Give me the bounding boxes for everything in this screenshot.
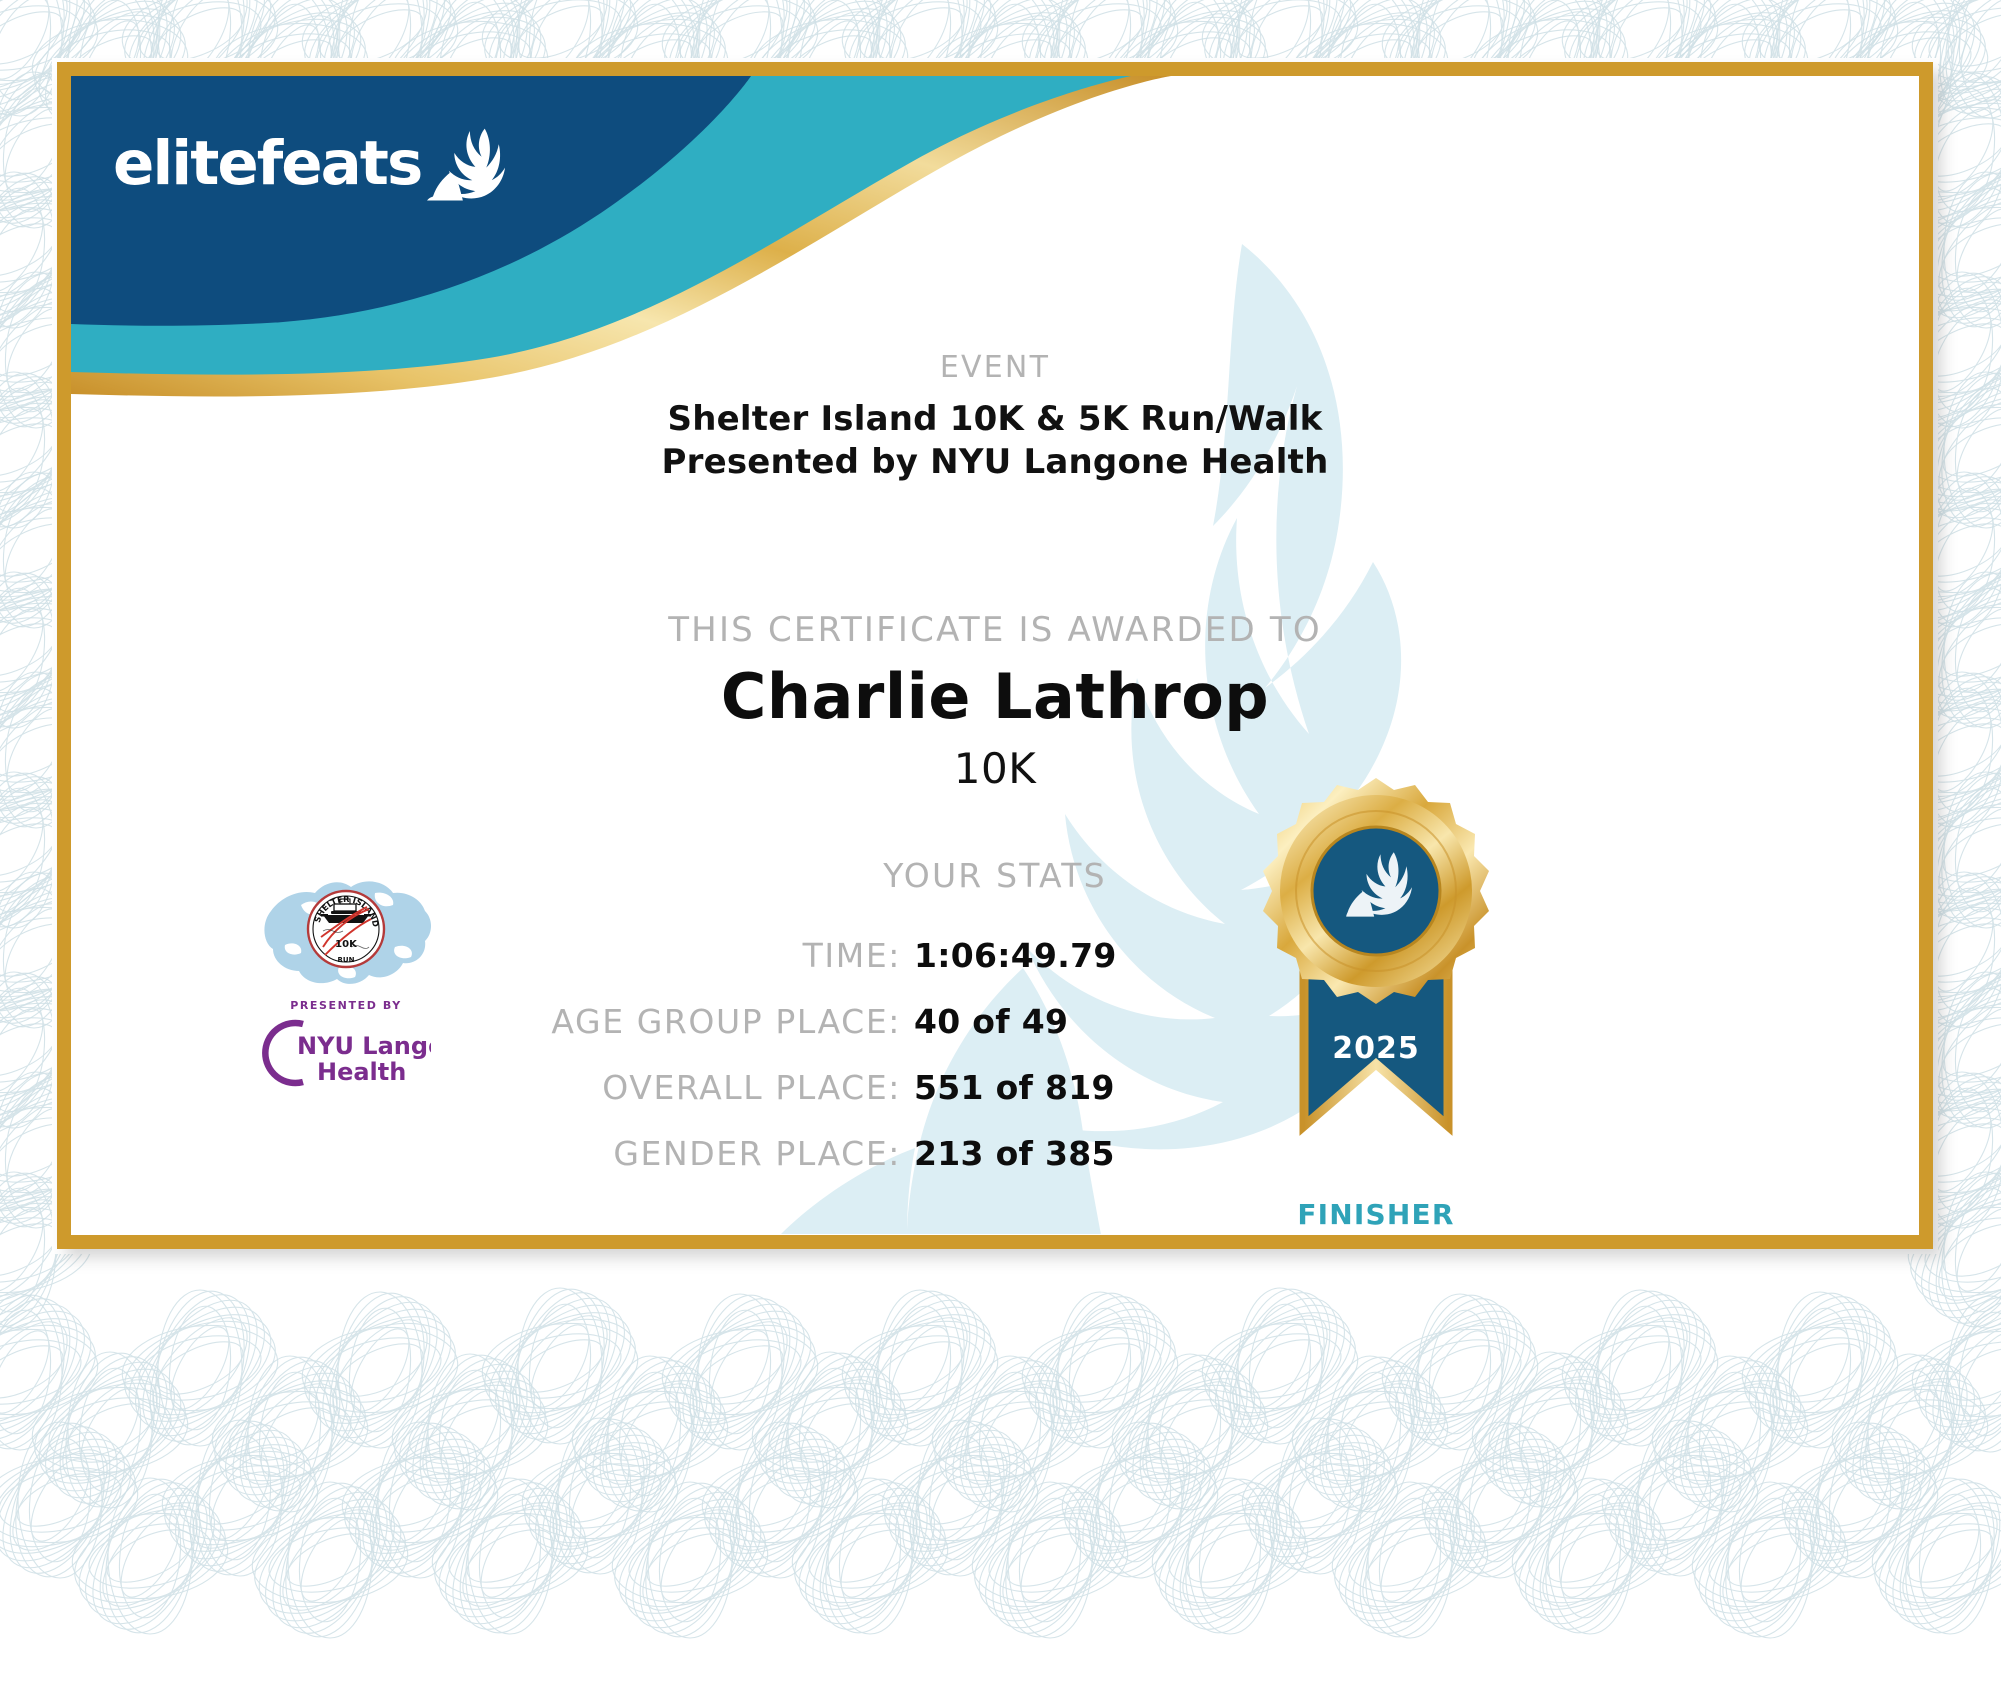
presented-by-label: PRESENTED BY bbox=[216, 999, 476, 1012]
event-name-line-2: Presented by NYU Langone Health bbox=[71, 441, 1919, 484]
elitefeats-logo: elitefeats bbox=[113, 124, 505, 202]
island-badge-run-text: RUN bbox=[338, 956, 355, 964]
stat-label-gender-place: GENDER PLACE: bbox=[71, 1134, 901, 1173]
certificate-canvas: elitefeats EVENT Shelter Island 10K & 5K… bbox=[71, 76, 1919, 1235]
finisher-caption-line-1: FINISHER bbox=[1211, 1198, 1541, 1231]
stat-label-overall-place: OVERALL PLACE: bbox=[71, 1068, 901, 1107]
awarded-to-label: THIS CERTIFICATE IS AWARDED TO bbox=[71, 610, 1919, 650]
race-distance: 10K bbox=[71, 744, 1919, 793]
winged-foot-icon bbox=[427, 124, 505, 202]
certificate-frame: elitefeats EVENT Shelter Island 10K & 5K… bbox=[57, 62, 1933, 1249]
stat-value-age-group-place: 40 of 49 bbox=[901, 1002, 1068, 1041]
stat-value-time: 1:06:49.79 bbox=[901, 936, 1117, 975]
nyu-logo-line-2: Health bbox=[317, 1058, 406, 1086]
finisher-certificate-caption: FINISHER CERTIFICATE bbox=[1211, 1198, 1541, 1235]
shelter-island-10k-run-logo-icon: SHELTER ISLAND bbox=[255, 871, 437, 993]
finisher-caption-line-2: CERTIFICATE bbox=[1211, 1231, 1541, 1235]
recipient-name: Charlie Lathrop bbox=[71, 660, 1919, 733]
island-badge-10k-text: 10K bbox=[335, 939, 358, 950]
event-name-line-1: Shelter Island 10K & 5K Run/Walk bbox=[71, 398, 1919, 441]
finisher-medal-block: 2025 FINISHER CERTIFICATE bbox=[1211, 776, 1541, 1235]
stat-row-gender-place: GENDER PLACE: 213 of 385 bbox=[71, 1134, 1919, 1184]
elitefeats-wordmark: elitefeats bbox=[113, 133, 421, 194]
finisher-medal-icon: 2025 bbox=[1246, 776, 1506, 1196]
stat-value-gender-place: 213 of 385 bbox=[901, 1134, 1115, 1173]
nyu-langone-health-logo-icon: NYU Langone Health bbox=[261, 1016, 431, 1092]
nyu-logo-line-1: NYU Langone bbox=[297, 1032, 431, 1060]
stat-value-overall-place: 551 of 819 bbox=[901, 1068, 1115, 1107]
medal-year: 2025 bbox=[1332, 1031, 1420, 1066]
stat-label-time: TIME: bbox=[71, 936, 901, 975]
stat-label-age-group-place: AGE GROUP PLACE: bbox=[71, 1002, 901, 1041]
medal-rosette bbox=[1263, 778, 1489, 1004]
event-label: EVENT bbox=[71, 350, 1919, 385]
certificate-page: elitefeats EVENT Shelter Island 10K & 5K… bbox=[0, 0, 2001, 1700]
event-name: Shelter Island 10K & 5K Run/Walk Present… bbox=[71, 398, 1919, 483]
sponsor-block: SHELTER ISLAND bbox=[216, 871, 476, 1092]
